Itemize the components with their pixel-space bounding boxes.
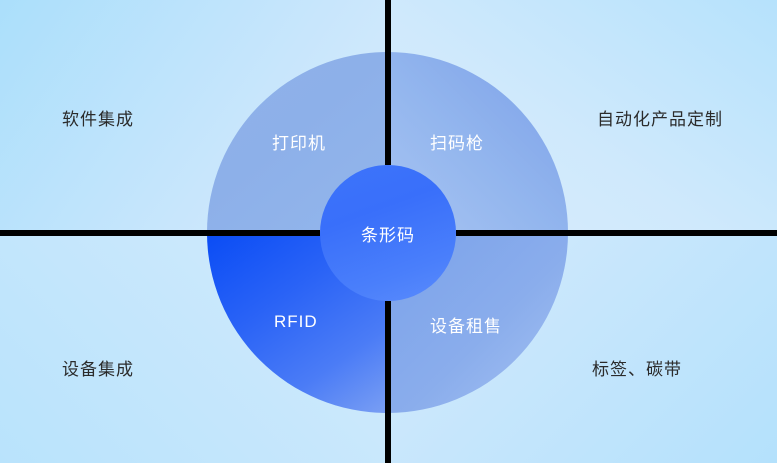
center-circle-label: 条形码 bbox=[361, 221, 415, 246]
diagram-canvas: 条形码 打印机 扫码枪 RFID 设备租售 软件集成 自动化产品定制 设备集成 … bbox=[0, 0, 777, 463]
ring-label-equipment-rental: 设备租售 bbox=[430, 312, 502, 337]
outer-label-automation-product-customization: 自动化产品定制 bbox=[597, 105, 723, 130]
outer-label-software-integration: 软件集成 bbox=[62, 105, 134, 130]
outer-label-equipment-integration: 设备集成 bbox=[62, 355, 134, 380]
axis-line-ring-left bbox=[207, 230, 320, 236]
ring-label-printer: 打印机 bbox=[272, 129, 326, 154]
ring-label-barcode-scanner: 扫码枪 bbox=[430, 129, 484, 154]
center-circle[interactable]: 条形码 bbox=[320, 165, 456, 301]
axis-line-ring-top bbox=[385, 52, 391, 165]
axis-line-vertical-top bbox=[385, 0, 391, 52]
axis-line-horizontal-right bbox=[568, 230, 777, 236]
axis-line-vertical-bottom bbox=[385, 413, 391, 463]
axis-line-horizontal-left bbox=[0, 230, 207, 236]
outer-label-labels-carbon-ribbon: 标签、碳带 bbox=[592, 355, 682, 380]
ring-label-rfid: RFID bbox=[274, 312, 318, 332]
axis-line-ring-bottom bbox=[385, 301, 391, 413]
axis-line-ring-right bbox=[456, 230, 568, 236]
